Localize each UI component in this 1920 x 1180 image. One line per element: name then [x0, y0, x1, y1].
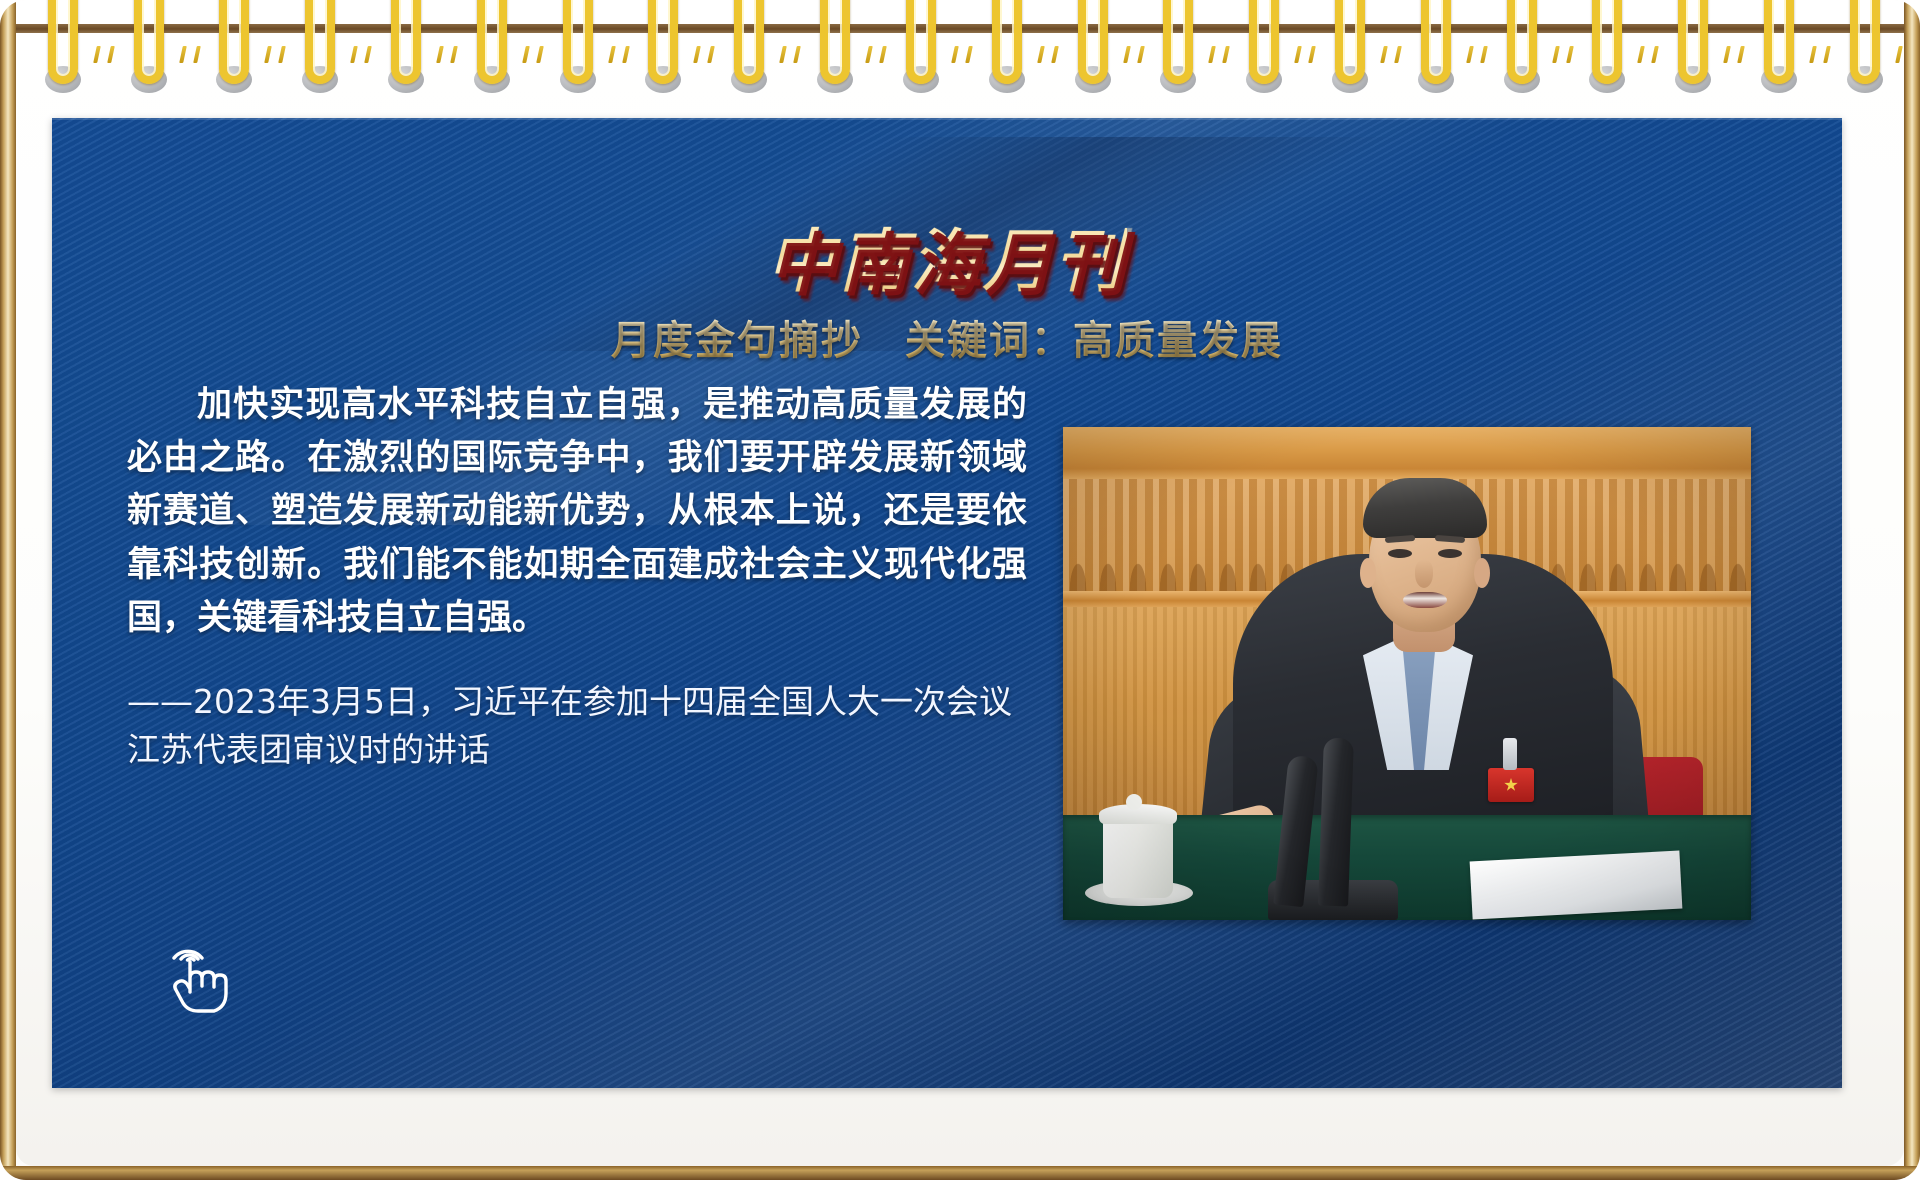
spiral-tick — [1823, 46, 1831, 63]
spiral-tick — [522, 46, 530, 63]
spiral-tick — [264, 46, 272, 63]
spiral-wire — [305, 0, 335, 84]
spiral-tick — [450, 46, 458, 63]
spiral-wire — [563, 0, 593, 84]
spiral-wire — [1850, 0, 1880, 84]
attribution-text: ——2023年3月5日，习近平在参加十四届全国人大一次会议江苏代表团审议时的讲话 — [127, 678, 1027, 774]
quote-text: 加快实现高水平科技自立自强，是推动高质量发展的必由之路。在激烈的国际竞争中，我们… — [127, 378, 1027, 644]
spiral-tick — [1895, 46, 1903, 63]
attribution-block: ——2023年3月5日，习近平在参加十四届全国人大一次会议江苏代表团审议时的讲话 — [127, 678, 1027, 774]
spiral-tick — [965, 46, 973, 63]
notebook-card: 中南海月刊 月度金句摘抄 关键词：高质量发展 加快实现高水平科技自立自强，是推动… — [0, 0, 1920, 1180]
subtitle-row: 月度金句摘抄 关键词：高质量发展 — [52, 308, 1842, 366]
spiral-tick — [107, 46, 115, 63]
spiral-ring-icon — [642, 0, 686, 92]
spiral-tick — [1552, 46, 1560, 63]
photo-ear-right — [1474, 558, 1490, 588]
spiral-tick — [93, 46, 101, 63]
spiral-tick — [1208, 46, 1216, 63]
spiral-wire — [1163, 0, 1193, 84]
quote-block: 加快实现高水平科技自立自强，是推动高质量发展的必由之路。在激烈的国际竞争中，我们… — [127, 378, 1027, 644]
spiral-ring-icon — [1072, 0, 1116, 92]
spiral-ring-icon — [1672, 0, 1716, 92]
subtitle: 月度金句摘抄 关键词：高质量发展 — [611, 318, 1283, 364]
spiral-binding — [16, 0, 1904, 105]
photo-microphone-right — [1318, 738, 1354, 907]
spiral-ring-icon — [1329, 0, 1373, 92]
spiral-tick — [193, 46, 201, 63]
frame-gold-right — [1904, 0, 1920, 1180]
spiral-tick — [436, 46, 444, 63]
spiral-wire — [477, 0, 507, 84]
spiral-ring-icon — [557, 0, 601, 92]
photo-ear-left — [1360, 558, 1376, 588]
photo-nose — [1415, 560, 1433, 588]
spiral-tick — [622, 46, 630, 63]
spiral-ring-icon — [1586, 0, 1630, 92]
spiral-tick — [707, 46, 715, 63]
spiral-tick — [1723, 46, 1731, 63]
spiral-wire — [648, 0, 678, 84]
spiral-tick — [1651, 46, 1659, 63]
spiral-ring-icon — [1501, 0, 1545, 92]
spiral-ring-icon — [900, 0, 944, 92]
photo-badge-clip — [1503, 738, 1517, 770]
photo-papers — [1470, 851, 1683, 920]
spiral-tick — [608, 46, 616, 63]
spiral-wire — [1078, 0, 1108, 84]
spiral-wire — [134, 0, 164, 84]
spiral-tick — [1809, 46, 1817, 63]
spiral-ring-icon — [814, 0, 858, 92]
spiral-tick — [1637, 46, 1645, 63]
spiral-tick — [1737, 46, 1745, 63]
spiral-ring-icon — [128, 0, 172, 92]
spiral-wire — [820, 0, 850, 84]
spiral-wire — [1249, 0, 1279, 84]
spiral-wire — [1764, 0, 1794, 84]
photo-cornice — [1063, 427, 1751, 479]
photo-teacup-knob — [1126, 794, 1142, 810]
spiral-tick — [779, 46, 787, 63]
spiral-wire — [1678, 0, 1708, 84]
spiral-tick — [179, 46, 187, 63]
photo-hair — [1363, 478, 1487, 538]
spiral-ring-icon — [1844, 0, 1888, 92]
spiral-tick — [1222, 46, 1230, 63]
spiral-tick — [879, 46, 887, 63]
photo-eye-right — [1438, 549, 1462, 558]
spiral-ring-icon — [299, 0, 343, 92]
spiral-ring-icon — [213, 0, 257, 92]
spiral-ring-icon — [1243, 0, 1287, 92]
spiral-tick — [865, 46, 873, 63]
spiral-ring-icon — [385, 0, 429, 92]
spiral-wire — [734, 0, 764, 84]
spiral-wire — [219, 0, 249, 84]
spiral-tick — [536, 46, 544, 63]
spiral-tick — [1380, 46, 1388, 63]
spiral-wire — [1592, 0, 1622, 84]
spiral-tick — [1480, 46, 1488, 63]
spiral-wire — [906, 0, 936, 84]
spiral-tick — [364, 46, 372, 63]
photo-eye-left — [1388, 549, 1412, 558]
spiral-tick — [693, 46, 701, 63]
photo-teacup — [1103, 816, 1173, 898]
spiral-tick — [793, 46, 801, 63]
spiral-ring-icon — [728, 0, 772, 92]
frame-gold-left — [0, 0, 16, 1180]
spiral-tick — [951, 46, 959, 63]
spiral-wire — [1335, 0, 1365, 84]
spiral-tick — [1294, 46, 1302, 63]
masthead: 中南海月刊 — [52, 206, 1842, 305]
spiral-wire — [992, 0, 1022, 84]
spiral-tick — [1466, 46, 1474, 63]
spiral-ring-icon — [42, 0, 86, 92]
spiral-wire — [391, 0, 421, 84]
spiral-tick — [1566, 46, 1574, 63]
spiral-tick — [1137, 46, 1145, 63]
spiral-wire — [1507, 0, 1537, 84]
spiral-wire — [1421, 0, 1451, 84]
photo — [1063, 427, 1751, 920]
spiral-ring-icon — [471, 0, 515, 92]
frame-gold-bottom — [0, 1166, 1920, 1180]
spiral-ring-icon — [1415, 0, 1459, 92]
spiral-tick — [1123, 46, 1131, 63]
spiral-tick — [278, 46, 286, 63]
spiral-wire — [48, 0, 78, 84]
photo-mouth — [1403, 592, 1447, 608]
spiral-ring-icon — [986, 0, 1030, 92]
page-title: 中南海月刊 — [767, 206, 1127, 305]
spiral-tick — [1308, 46, 1316, 63]
spiral-tick — [350, 46, 358, 63]
spiral-ring-icon — [1758, 0, 1802, 92]
tap-hand-icon[interactable] — [160, 934, 234, 1016]
spiral-tick — [1051, 46, 1059, 63]
spiral-tick — [1037, 46, 1045, 63]
spiral-tick — [1394, 46, 1402, 63]
poster-panel: 中南海月刊 月度金句摘抄 关键词：高质量发展 加快实现高水平科技自立自强，是推动… — [52, 118, 1842, 1088]
spiral-ring-icon — [1157, 0, 1201, 92]
